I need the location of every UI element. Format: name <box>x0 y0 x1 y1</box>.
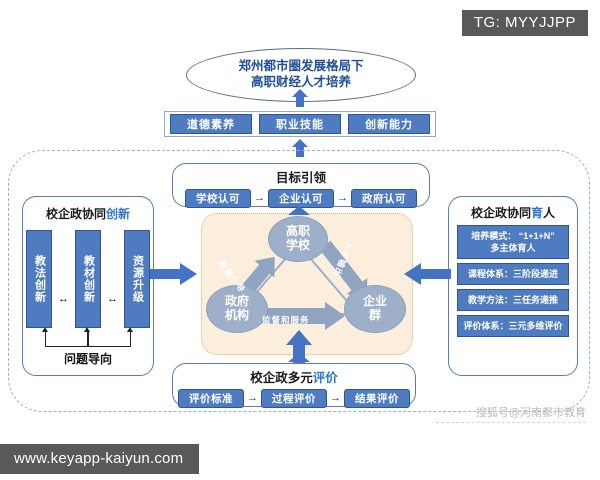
quality-item-skill: 职业技能 <box>259 114 341 134</box>
right-bar-training-model-line2: 多主体育人 <box>471 242 555 254</box>
sohu-watermark-rule <box>436 422 586 423</box>
multi-evaluation-panel: 校企政多元评价 评价标准 → 过程评价 → 结果评价 <box>172 363 416 407</box>
left-link-arrow-1: ↔ <box>58 294 69 305</box>
left-bar-textbook: 教材创新 <box>75 230 101 328</box>
left-panel-footer: 问题导向 <box>23 350 153 367</box>
bottom-left-watermark-tag: www.keyapp-kaiyun.com <box>0 444 199 474</box>
left-bar-teaching-method: 教法创新 <box>26 230 52 328</box>
right-panel-title-accent: 育 <box>531 206 543 220</box>
goal-arrow-1: → <box>254 193 265 204</box>
bottom-panel-title-accent: 评价 <box>313 371 338 385</box>
bottom-panel-title: 校企政多元评价 <box>173 367 415 386</box>
goal-guidance-panel: 目标引领 学校认可 → 企业认可 → 政府认可 <box>172 163 430 207</box>
quality-item-morality: 道德素养 <box>170 114 252 134</box>
bottom-chip-row: 评价标准 → 过程评价 → 结果评价 <box>173 389 415 408</box>
left-link-arrow-2: ↔ <box>107 294 118 305</box>
arrow-up-to-title <box>292 89 308 107</box>
bottom-chip-process: 过程评价 <box>261 389 327 408</box>
goal-panel-title: 目标引领 <box>173 167 429 186</box>
goal-arrow-2: → <box>337 193 348 204</box>
node-government-line2: 机构 <box>225 309 249 323</box>
node-government-line1: 政府 <box>225 295 249 309</box>
right-bar-training-model-line1: 培养模式： “1+1+N” <box>471 230 555 242</box>
sohu-watermark: 搜狐号@河南都市教育 <box>476 404 586 420</box>
node-school-line1: 高职 <box>286 225 310 239</box>
flow-arrow-center-to-goal <box>287 206 311 216</box>
right-panel-title-plain-a: 校企政协同 <box>471 206 531 220</box>
node-enterprise-line1: 企业 <box>363 295 387 309</box>
goal-chip-school: 学校认可 <box>185 189 251 208</box>
node-enterprise-group: 企业 群 <box>344 285 406 333</box>
right-bar-curriculum: 课程体系：三阶段递进 <box>457 263 569 285</box>
top-right-watermark-tag: TG: MYYJJPP <box>462 10 588 36</box>
right-bar-teaching-method: 教学方法：三任务递推 <box>457 289 569 311</box>
left-panel-title: 校企政协同创新 <box>23 205 153 222</box>
goal-chip-government: 政府认可 <box>351 189 417 208</box>
bottom-arrow-2: → <box>330 393 341 404</box>
collaborative-innovation-panel: 校企政协同创新 教法创新 ↔ 教材创新 ↔ 资源升级 问题导向 <box>22 196 154 376</box>
node-vocational-school: 高职 学校 <box>268 216 328 262</box>
left-panel-bars: 教法创新 ↔ 教材创新 ↔ 资源升级 <box>23 230 153 328</box>
bottom-arrow-1: → <box>247 393 258 404</box>
bottom-chip-result: 结果评价 <box>344 389 410 408</box>
bottom-chip-criteria: 评价标准 <box>178 389 244 408</box>
left-bracket-tick-3 <box>127 327 134 334</box>
right-panel-title-plain-b: 人 <box>543 206 555 220</box>
right-bar-training-model: 培养模式： “1+1+N” 多主体育人 <box>457 225 569 259</box>
left-bracket-tick-2 <box>84 327 91 334</box>
left-bar-resource: 资源升级 <box>124 230 150 328</box>
left-panel-title-accent: 创新 <box>106 207 130 221</box>
flow-arrow-right-to-center <box>404 262 452 286</box>
collaborative-education-panel: 校企政协同育人 培养模式： “1+1+N” 多主体育人 课程体系：三阶段递进 教… <box>448 196 578 376</box>
node-school-line2: 学校 <box>286 239 310 253</box>
flow-arrow-evaluation-up <box>287 353 311 363</box>
flow-arrow-left-to-center <box>150 262 198 286</box>
right-bar-evaluation-system: 评价体系：三元多维评价 <box>457 315 569 337</box>
edge-label-supervision-service: 监督和服务 <box>262 314 310 326</box>
right-panel-title: 校企政协同育人 <box>449 204 577 221</box>
left-bracket-tick-1 <box>42 327 49 334</box>
diagram-canvas: TG: MYYJJPP 郑州都市圈发展格局下 高职财经人才培养 道德素养 职业技… <box>0 0 600 480</box>
quality-outcomes-row: 道德素养 职业技能 创新能力 <box>164 111 436 137</box>
main-title-line-1: 郑州都市圈发展格局下 <box>238 59 363 75</box>
bottom-panel-title-plain: 校企政多元 <box>250 371 313 385</box>
quality-item-innovation: 创新能力 <box>348 114 430 134</box>
left-panel-title-plain: 校企政协同 <box>46 207 106 221</box>
node-enterprise-line2: 群 <box>369 309 381 323</box>
